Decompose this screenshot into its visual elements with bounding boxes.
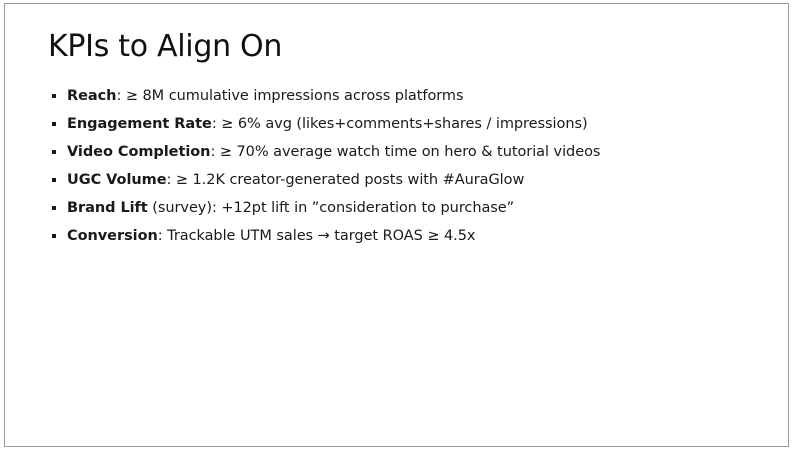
list-item: Video Completion: ≥ 70% average watch ti…	[48, 138, 748, 166]
square-bullet-icon	[52, 150, 56, 154]
list-item-detail: : ≥ 6% avg (likes+comments+shares / impr…	[212, 116, 588, 132]
square-bullet-icon	[52, 206, 56, 210]
list-item-label: Reach	[67, 88, 116, 104]
square-bullet-icon	[52, 122, 56, 126]
list-item: Conversion: Trackable UTM sales → target…	[48, 222, 748, 250]
slide-canvas: KPIs to Align On Reach: ≥ 8M cumulative …	[0, 0, 800, 449]
list-item-detail: : Trackable UTM sales → target ROAS ≥ 4.…	[158, 228, 476, 244]
list-item-detail: : ≥ 1.2K creator-generated posts with #A…	[167, 172, 525, 188]
page-title: KPIs to Align On	[48, 28, 282, 66]
slide-surface: KPIs to Align On Reach: ≥ 8M cumulative …	[4, 3, 789, 447]
square-bullet-icon	[52, 178, 56, 182]
list-item-label: Engagement Rate	[67, 116, 212, 132]
list-item-label: Brand Lift	[67, 200, 148, 216]
list-item: UGC Volume: ≥ 1.2K creator-generated pos…	[48, 166, 748, 194]
square-bullet-icon	[52, 234, 56, 238]
list-item-detail: : ≥ 70% average watch time on hero & tut…	[210, 144, 600, 160]
list-item-detail: : ≥ 8M cumulative impressions across pla…	[116, 88, 463, 104]
list-item-label: Conversion	[67, 228, 158, 244]
list-item-label: Video Completion	[67, 144, 210, 160]
square-bullet-icon	[52, 94, 56, 98]
list-item: Brand Lift (survey): +12pt lift in ”cons…	[48, 194, 748, 222]
list-item: Reach: ≥ 8M cumulative impressions acros…	[48, 82, 748, 110]
list-item-detail: (survey): +12pt lift in ”consideration t…	[148, 200, 514, 216]
list-item-label: UGC Volume	[67, 172, 167, 188]
list-item: Engagement Rate: ≥ 6% avg (likes+comment…	[48, 110, 748, 138]
slide-body: KPIs to Align On Reach: ≥ 8M cumulative …	[5, 4, 788, 446]
kpi-bullet-list: Reach: ≥ 8M cumulative impressions acros…	[48, 82, 748, 250]
